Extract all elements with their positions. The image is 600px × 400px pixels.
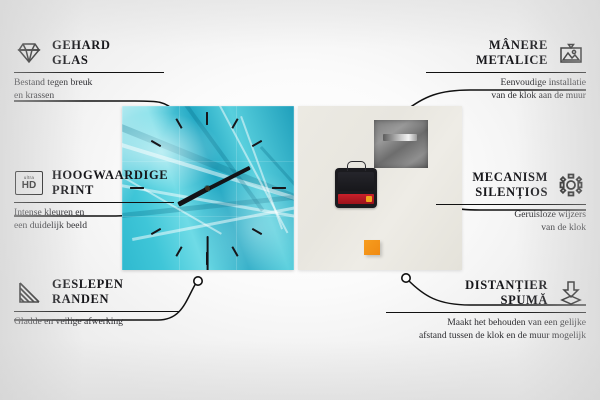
callout-title: GEHARDGLAS [52,38,110,69]
spacer-arrow-icon [556,279,586,307]
callout-hoogwaardige-print: ultra HD HOOGWAARDIGEPRINT Intense kleur… [14,168,184,233]
callout-manere-metalice: MÂNEREMETALICE Eenvoudige installatievan… [426,38,586,103]
clock-center-hub [205,186,210,191]
callout-title: DISTANȚIERSPUMĂ [465,278,548,309]
hanger-slot [383,134,417,141]
mechanism-hook [347,161,366,171]
ultra-hd-icon: ultra HD [14,169,44,197]
callout-title: GESLEPENRANDEN [52,277,124,308]
callout-subtitle: Maakt het behouden van een gelijkeafstan… [386,317,586,343]
callout-rule [426,72,586,73]
mechanism-body [338,172,374,191]
metal-hanger-plate [374,120,428,168]
callout-rule [436,204,586,205]
gear-icon [556,171,586,199]
callout-rule [14,72,164,73]
callout-subtitle: Geruisloze wijzersvan de klok [436,209,586,235]
callout-subtitle: Gladde en veilige afwerking [14,316,189,329]
beveled-edges-icon [14,278,44,306]
clock-tick [206,112,208,125]
wall-mount-frame-icon [556,39,586,67]
callout-title: MECANISMSILENȚIOS [472,170,548,201]
clock-mechanism [335,168,377,208]
foam-spacer [364,240,380,255]
callout-rule [14,311,179,312]
callout-gehard-glas: GEHARDGLAS Bestand tegen breuken krassen [14,38,174,103]
callout-rule [14,202,174,203]
callout-rule [386,312,586,313]
infographic-canvas: GEHARDGLAS Bestand tegen breuken krassen… [0,0,600,400]
callout-geslepen-randen: GESLEPENRANDEN Gladde en veilige afwerki… [14,277,189,329]
battery [338,194,374,204]
callout-title: MÂNEREMETALICE [476,38,548,69]
callout-subtitle: Intense kleuren eneen duidelijk beeld [14,207,184,233]
callout-mecanism-silentios: MECANISMSILENȚIOS Geruisloze wijzersvan … [436,170,586,235]
callout-subtitle: Eenvoudige installatievan de klok aan de… [426,77,586,103]
clock-second-hand [207,236,209,270]
callout-distantier-spuma: DISTANȚIERSPUMĂ Maakt het behouden van e… [386,278,586,343]
diamond-icon [14,39,44,67]
callout-subtitle: Bestand tegen breuken krassen [14,77,174,103]
callout-title: HOOGWAARDIGEPRINT [52,168,168,199]
ultra-hd-large-label: HD [22,181,36,191]
